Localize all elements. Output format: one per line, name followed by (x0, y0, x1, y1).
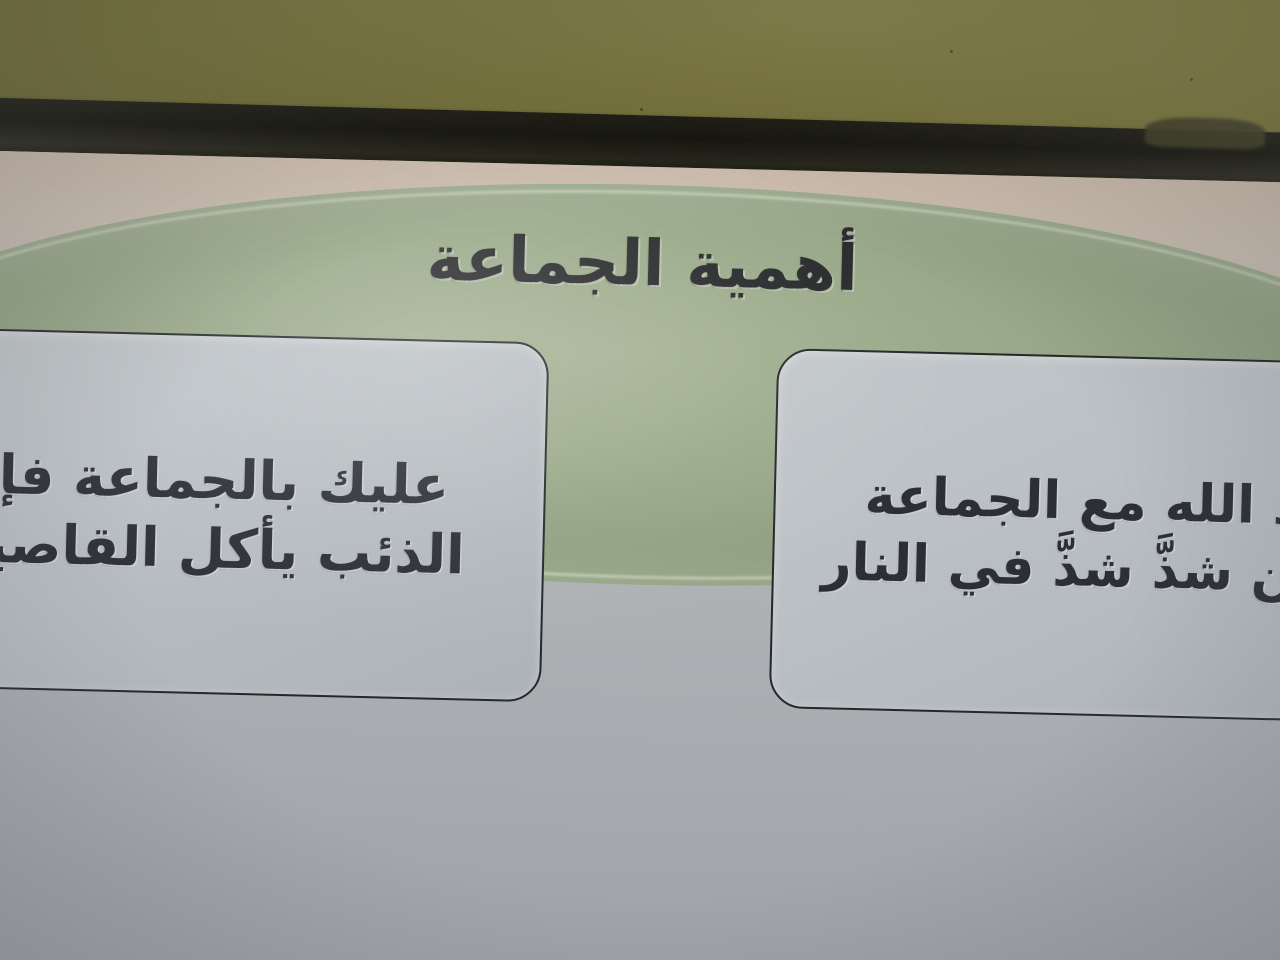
quote-box-row: يد الله مع الجماعة ومن شذَّ شذَّ في النا… (0, 328, 1280, 741)
quote-text-left: عليك بالجماعة فإن الذئب يأكل القاصية. (0, 437, 519, 591)
projected-slide: أهمية الجماعة يد الله مع الجماعة ومن شذَ… (0, 150, 1280, 960)
wall-speck (640, 108, 643, 111)
wall-speck (1190, 78, 1193, 81)
bezel-mount-bracket (1145, 117, 1266, 150)
quote-box-right: يد الله مع الجماعة ومن شذَّ شذَّ في النا… (769, 348, 1280, 724)
wall-speck (950, 50, 953, 53)
quote-text-right: يد الله مع الجماعة ومن شذَّ شذَّ في النا… (799, 462, 1280, 609)
photograph-canvas: أهمية الجماعة يد الله مع الجماعة ومن شذَ… (0, 0, 1280, 960)
quote-box-left: عليك بالجماعة فإن الذئب يأكل القاصية. (0, 326, 549, 703)
